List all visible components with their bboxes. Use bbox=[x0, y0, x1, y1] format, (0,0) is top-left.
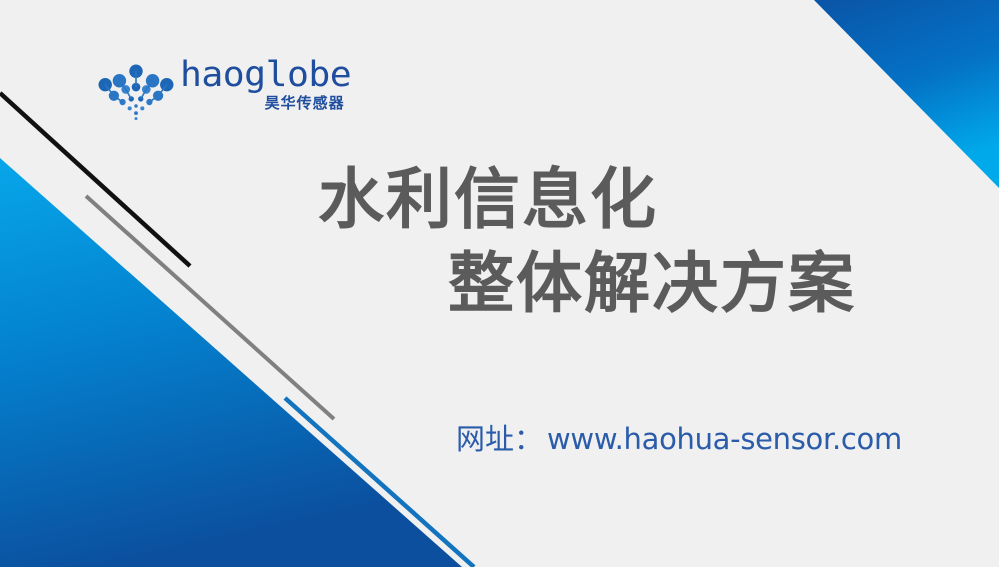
company-logo: haoglobe 昊华传感器 bbox=[98, 57, 328, 127]
page-title-line-2: 整体解决方案 bbox=[448, 242, 920, 326]
logo-text-block: haoglobe 昊华传感器 bbox=[180, 57, 345, 112]
title-slide: haoglobe 昊华传感器 水利信息化 整体解决方案 网址： www.haoh… bbox=[0, 0, 999, 567]
website-url[interactable]: www.haohua-sensor.com bbox=[547, 420, 902, 458]
page-title-line-1: 水利信息化 bbox=[318, 158, 920, 242]
website-label: 网址： bbox=[456, 420, 543, 458]
page-title: 水利信息化 整体解决方案 bbox=[300, 158, 920, 326]
logo-subwordmark: 昊华传感器 bbox=[265, 94, 345, 112]
dot-network-icon bbox=[98, 61, 174, 121]
logo-wordmark: haoglobe bbox=[180, 57, 351, 93]
website-line: 网址： www.haohua-sensor.com bbox=[456, 420, 902, 458]
